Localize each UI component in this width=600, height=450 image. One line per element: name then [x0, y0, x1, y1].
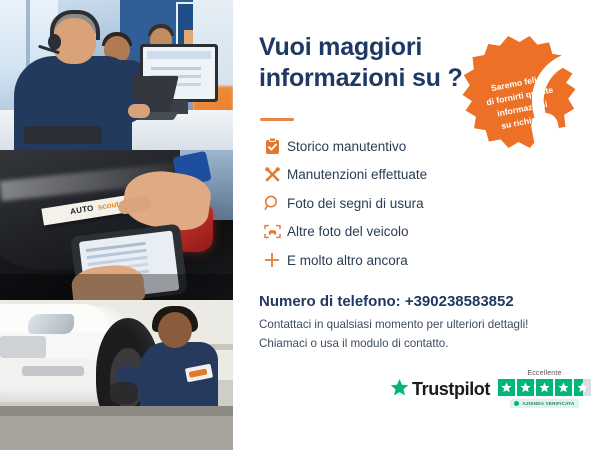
feature-label: Foto dei segni di usura — [287, 196, 424, 211]
trustpilot-star-icon — [390, 378, 409, 402]
feature-label: Altre foto del veicolo — [287, 224, 409, 239]
star-filled — [498, 379, 515, 396]
feature-item-altre-foto-veicolo: Altre foto del veicolo — [257, 218, 557, 247]
verified-check-icon — [514, 401, 519, 406]
feature-label: E molto altro ancora — [287, 253, 408, 268]
feature-item-foto-segni-usura: Foto dei segni di usura — [257, 189, 557, 218]
star-half — [574, 379, 591, 396]
bumper-vent — [22, 366, 84, 376]
phone-number-line[interactable]: Numero di telefono: +390238583852 — [259, 293, 514, 310]
rating-label: Eccellente — [527, 370, 561, 377]
content-panel: Vuoi maggiori informazioni su ? Saremo f… — [233, 0, 600, 450]
contact-subtext-line-2: Chiamaci o usa il modulo di contatto. — [259, 337, 448, 350]
vehicle-inspection-photo — [0, 150, 233, 300]
star-filled — [555, 379, 572, 396]
contact-subtext-line-1: Contattaci in qualsiasi momento per ulte… — [259, 318, 528, 331]
photo-column — [0, 0, 233, 450]
verified-label: AZIENDA VERIFICATA — [522, 401, 574, 406]
verified-company-badge: AZIENDA VERIFICATA — [510, 399, 578, 408]
advertisement-banner: Vuoi maggiori informazioni su ? Saremo f… — [0, 0, 600, 450]
feature-item-storico-manutentivo: Storico manutentivo — [257, 132, 557, 161]
clipboard-check-icon — [257, 138, 287, 155]
star-rating — [498, 379, 591, 396]
grille — [0, 336, 46, 358]
photo-frame-car-icon — [257, 224, 287, 239]
feature-item-manutenzioni-effettuate: Manutenzioni effettuate — [257, 161, 557, 190]
feature-label: Manutenzioni effettuate — [287, 167, 427, 182]
trustpilot-widget[interactable]: Trustpilot Eccellente — [390, 370, 591, 408]
magnifier-icon — [257, 195, 287, 211]
workshop-wheel-photo — [0, 300, 233, 450]
trustpilot-rating: Eccellente — [498, 370, 591, 408]
feature-item-molto-altro: E molto altro ancora — [257, 246, 557, 275]
trustpilot-name: Trustpilot — [412, 379, 490, 400]
star-filled — [536, 379, 553, 396]
star-filled — [517, 379, 534, 396]
trustpilot-brand: Trustpilot — [390, 378, 490, 408]
call-center-agents-photo — [0, 0, 233, 150]
feature-label: Storico manutentivo — [287, 139, 406, 154]
lower-shadow — [0, 274, 233, 300]
feature-list: Storico manutentivo Manutenzioni effettu… — [257, 132, 557, 275]
desk-documents — [24, 126, 102, 144]
lift-platform — [0, 416, 233, 450]
plus-icon — [257, 252, 287, 268]
headlight — [28, 314, 74, 334]
crossed-tools-icon — [257, 166, 287, 183]
title-divider — [260, 118, 294, 121]
lift-platform-top — [0, 406, 233, 416]
